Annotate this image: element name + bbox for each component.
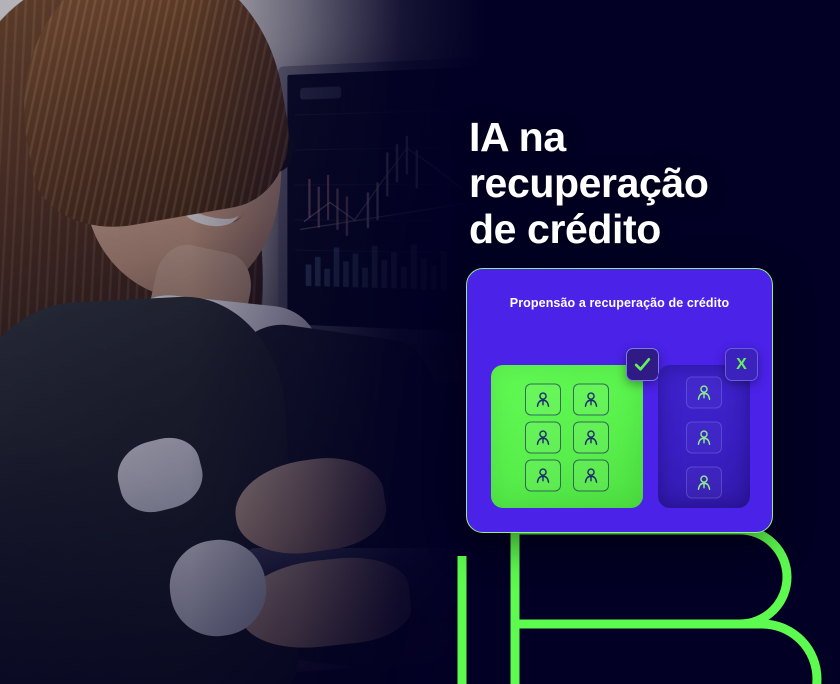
person-icon [695,383,713,401]
person-icon [582,428,600,446]
panels-row: X [491,365,750,508]
page-title: IA na recuperação de crédito [469,115,799,253]
propensity-card: Propensão a recuperação de crédito [466,268,773,533]
poster-canvas: IA na recuperação de crédito Propensão a… [0,0,840,684]
person-icon [695,473,713,491]
approved-people-grid [525,383,609,490]
person-icon [582,390,600,408]
approved-group-panel[interactable] [491,365,643,508]
check-badge[interactable] [626,348,659,381]
person-tile[interactable] [573,421,609,453]
person-tile[interactable] [686,466,722,498]
hero-photo [0,0,500,684]
person-tile[interactable] [686,421,722,453]
x-icon: X [736,356,747,374]
rejected-people-grid [686,376,722,497]
person-tile[interactable] [573,459,609,491]
card-title: Propensão a recuperação de crédito [467,296,772,310]
person-icon [695,428,713,446]
brand-mark-b [440,518,840,684]
photo-gradient-fade [0,0,500,684]
person-tile[interactable] [525,459,561,491]
person-tile[interactable] [525,421,561,453]
person-icon [534,390,552,408]
x-badge[interactable]: X [725,348,758,381]
person-icon [534,466,552,484]
person-tile[interactable] [525,383,561,415]
person-tile[interactable] [573,383,609,415]
rejected-group-panel[interactable]: X [658,365,750,508]
person-icon [534,428,552,446]
person-tile[interactable] [686,376,722,408]
person-icon [582,466,600,484]
check-icon [633,355,652,374]
